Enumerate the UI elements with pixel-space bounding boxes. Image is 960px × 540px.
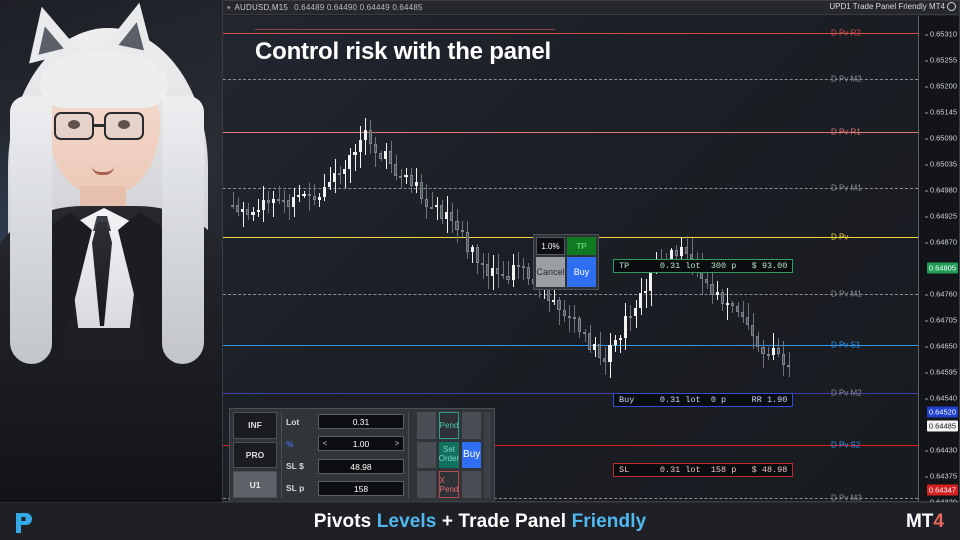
banner-part-3: + Trade Panel <box>436 511 571 532</box>
brand-p-logo-icon <box>14 512 34 534</box>
candle-body <box>430 207 433 209</box>
panel-divider-1 <box>281 412 282 498</box>
sl-points-field[interactable]: 158 <box>318 481 404 496</box>
panel-buy-button[interactable]: Buy <box>462 442 481 469</box>
promo-character-image <box>0 0 222 502</box>
glasses-left-lens-icon <box>54 112 94 140</box>
character-hair-right <box>162 96 204 364</box>
character-illustration <box>0 0 222 502</box>
price-tick: 0.65145 <box>930 108 957 117</box>
candle-body <box>338 173 341 175</box>
action-slot-1[interactable] <box>417 412 436 439</box>
banner-title: Pivots Levels + Trade Panel Friendly <box>314 511 647 533</box>
inf-button[interactable]: INF <box>233 412 277 439</box>
caret-down-icon[interactable]: ▾ <box>227 4 231 12</box>
trade-panel-actions: Pend Set Order Buy X Pend <box>417 412 481 498</box>
pivot-label: D Pv M3 <box>831 494 862 502</box>
candle-wick <box>273 191 274 217</box>
candle-body <box>588 333 591 351</box>
platform-badge: MT4 <box>906 511 944 533</box>
candle-body <box>292 197 295 207</box>
candle-body <box>767 354 770 356</box>
candle-body <box>583 332 586 334</box>
u1-button[interactable]: U1 <box>233 471 277 498</box>
trade-panel-mode-buttons: INFPROU1 <box>233 412 277 498</box>
page-title: Control risk with the panel <box>255 38 551 66</box>
candle-body <box>557 300 560 310</box>
character-fringe <box>40 52 168 108</box>
candle-body <box>675 250 678 256</box>
price-tick: 0.64705 <box>930 316 957 325</box>
pivot-line <box>223 188 918 189</box>
order-line-extra: $ 93.00 <box>752 261 788 271</box>
candle-body <box>267 200 270 203</box>
buy-order-line[interactable]: Buy 0.31 lot 0 p RR 1.90 <box>613 393 793 407</box>
candle-body <box>450 212 453 221</box>
sl-dollar-field[interactable]: 48.98 <box>318 459 404 474</box>
candle-body <box>455 221 458 230</box>
candle-body <box>394 164 397 176</box>
candle-body <box>639 293 642 308</box>
candle-body <box>277 199 280 201</box>
candle-body <box>353 152 356 155</box>
candle-body <box>741 312 744 317</box>
candle-body <box>246 209 249 215</box>
banner-part-1: Pivots <box>314 511 377 532</box>
pivot-label: D Pv S1 <box>831 341 860 350</box>
banner-part-4: Friendly <box>572 511 647 532</box>
candle-body <box>578 318 581 332</box>
headline-rule <box>255 29 555 30</box>
candle-body <box>644 291 647 293</box>
pivot-label: D Pv M1 <box>831 290 862 299</box>
candle-wick <box>462 221 463 237</box>
action-slot-4[interactable] <box>417 442 436 469</box>
chart-symbol-label: AUDUSD,M15 <box>235 3 289 12</box>
trade-panel[interactable]: INFPROU1 Lot0.31%<1.00>SL $48.98SL p158 … <box>229 408 495 501</box>
price-tick: 0.65255 <box>930 56 957 65</box>
candle-body <box>323 187 326 196</box>
pivot-label: D Pv M2 <box>831 75 862 84</box>
price-tick: 0.65090 <box>930 134 957 143</box>
order-line-lot: 0.31 lot <box>660 465 711 475</box>
candle-body <box>262 200 265 210</box>
candle-body <box>399 176 402 178</box>
banner-part-2: Levels <box>377 511 437 532</box>
candle-body <box>471 247 474 251</box>
price-tick: 0.64375 <box>930 472 957 481</box>
candle-body <box>619 338 622 340</box>
candle-body <box>318 197 321 200</box>
action-slot-3[interactable] <box>462 412 481 439</box>
trade-panel-fields: Lot0.31%<1.00>SL $48.98SL p158 <box>286 412 404 498</box>
tp-order-line[interactable]: TP 0.31 lot 300 p $ 93.00 <box>613 259 793 273</box>
candle-body <box>435 205 438 207</box>
candle-wick <box>620 335 621 353</box>
order-line-label: SL <box>619 465 660 475</box>
sl-points-field-row: SL p158 <box>286 479 404 498</box>
candle-body <box>573 317 576 319</box>
candle-body <box>287 200 290 207</box>
percent-stepper-row: %<1.00> <box>286 434 404 453</box>
sl-dollar-field-label: SL $ <box>286 461 318 471</box>
chart-titlebar: ▾ AUDUSD,M15 0.64489 0.64490 0.64449 0.6… <box>223 1 959 15</box>
price-tick: 0.64980 <box>930 186 957 195</box>
candle-body <box>384 151 387 159</box>
candle-wick <box>574 305 575 334</box>
candle-body <box>425 199 428 207</box>
candle-body <box>359 140 362 152</box>
candle-wick <box>789 352 790 377</box>
candle-body <box>756 336 759 347</box>
order-line-points: 300 p <box>711 261 752 271</box>
pivot-label: D Pv R2 <box>831 29 861 38</box>
set-order-button[interactable]: Set Order <box>439 442 460 469</box>
candle-wick <box>569 305 570 332</box>
lot-field-label: Lot <box>286 417 318 427</box>
smiley-icon <box>947 2 956 11</box>
candle-wick <box>503 261 504 279</box>
candle-body <box>608 345 611 363</box>
pivot-line <box>223 33 918 34</box>
stepper-decrement-icon[interactable]: < <box>319 439 331 448</box>
candle-body <box>420 182 423 199</box>
lot-field[interactable]: 0.31 <box>318 414 404 429</box>
percent-stepper-label: % <box>286 439 318 449</box>
pivot-line <box>223 132 918 133</box>
price-tick: 0.64430 <box>930 446 957 455</box>
candle-wick <box>299 185 300 202</box>
candle-body <box>404 175 407 177</box>
percent-stepper[interactable]: <1.00> <box>318 436 404 451</box>
panel-divider-2 <box>408 412 409 498</box>
mt4-chart-window: ▾ AUDUSD,M15 0.64489 0.64490 0.64449 0.6… <box>222 0 960 502</box>
popup-buy-button[interactable]: Buy <box>567 257 596 287</box>
candle-body <box>603 358 606 363</box>
price-tick: 0.64595 <box>930 368 957 377</box>
candle-body <box>751 325 754 336</box>
candle-body <box>710 284 713 295</box>
candle-body <box>445 212 448 219</box>
candle-body <box>563 310 566 316</box>
candle-wick <box>314 184 315 206</box>
candle-wick <box>630 305 631 331</box>
candle-body <box>726 303 729 305</box>
panel-scrollbar[interactable] <box>484 412 491 498</box>
candle-body <box>593 344 596 350</box>
order-line-lot: 0.31 lot <box>660 395 711 405</box>
order-line-points: 0 p <box>711 395 752 405</box>
candle-body <box>302 194 305 196</box>
chart-body: Control risk with the panel D Pv R2D Pv … <box>223 16 959 501</box>
action-slot-9[interactable] <box>462 471 481 498</box>
candle-body <box>685 247 688 254</box>
indicator-title-label: UPD1 Trade Panel Friendly MT4 <box>829 2 945 11</box>
candle-wick <box>243 202 244 226</box>
order-line-points: 158 p <box>711 465 752 475</box>
sl-price-box[interactable]: 0.64347 <box>927 485 958 496</box>
candle-wick <box>773 333 774 360</box>
chart-ohlc-quotes: 0.64489 0.64490 0.64449 0.64485 <box>294 3 423 12</box>
candle-wick <box>523 258 524 280</box>
candle-body <box>512 265 515 280</box>
character-hair-left <box>10 96 52 364</box>
glasses-right-lens-icon <box>104 112 144 140</box>
candle-body <box>552 300 555 302</box>
candle-body <box>598 344 601 357</box>
price-tick: 0.64540 <box>930 394 957 403</box>
candle-wick <box>258 199 259 217</box>
stepper-increment-icon[interactable]: > <box>391 439 403 448</box>
indicator-name-group: UPD1 Trade Panel Friendly MT4 <box>829 2 956 11</box>
risk-percent-value[interactable]: 1.0% <box>536 237 565 255</box>
pivot-label: D Pv R1 <box>831 128 861 137</box>
candle-body <box>782 354 785 365</box>
candle-body <box>343 169 346 174</box>
candle-body <box>568 316 571 318</box>
candle-body <box>297 195 300 197</box>
candle-body <box>257 210 260 212</box>
candle-body <box>716 292 719 295</box>
candle-body <box>241 209 244 212</box>
candle-body <box>461 230 464 232</box>
candle-body <box>251 212 254 215</box>
quick-trade-popup[interactable]: 1.0% TP Cancel Buy <box>533 234 599 290</box>
action-slot-7[interactable] <box>417 471 436 498</box>
candle-body <box>731 303 734 306</box>
pivot-label: D Pv S2 <box>831 441 860 450</box>
candle-body <box>379 153 382 159</box>
pivot-line <box>223 294 918 295</box>
candle-wick <box>763 340 764 368</box>
cat-ear-right-inner <box>119 20 150 51</box>
candle-wick <box>309 183 310 211</box>
candle-body <box>721 292 724 305</box>
cancel-pending-button[interactable]: X Pend <box>439 471 460 498</box>
candle-body <box>486 264 489 277</box>
candle-body <box>680 247 683 256</box>
candle-wick <box>437 197 438 220</box>
candle-body <box>624 316 627 339</box>
candle-body <box>328 182 331 187</box>
promo-banner: Pivots Levels + Trade Panel Friendly MT4 <box>0 502 960 540</box>
candle-body <box>634 308 637 316</box>
candle-wick <box>416 168 417 193</box>
current-price-box[interactable]: 0.64485 <box>927 421 958 432</box>
candle-body <box>364 130 367 141</box>
candle-body <box>369 130 372 144</box>
candle-body <box>466 232 469 252</box>
price-tick: 0.64925 <box>930 212 957 221</box>
candle-body <box>614 340 617 345</box>
candle-body <box>389 151 392 163</box>
candle-body <box>491 268 494 277</box>
sl-order-line[interactable]: SL 0.31 lot 158 p $ 48.98 <box>613 463 793 477</box>
candle-wick <box>483 253 484 279</box>
candle-wick <box>646 279 647 308</box>
candle-body <box>772 348 775 355</box>
price-tick: 0.64870 <box>930 238 957 247</box>
price-tick: 0.65200 <box>930 82 957 91</box>
percent-stepper-value: 1.00 <box>331 439 391 449</box>
candle-body <box>272 199 275 203</box>
candle-wick <box>279 186 280 205</box>
candle-body <box>527 267 530 279</box>
platform-label: MT <box>906 511 933 532</box>
price-tick: 0.64650 <box>930 342 957 351</box>
platform-version: 4 <box>933 511 944 532</box>
candle-body <box>236 205 239 211</box>
candle-body <box>415 182 418 186</box>
pivot-line <box>223 345 918 346</box>
price-scale[interactable]: 0.653100.652550.652000.651450.650900.650… <box>918 16 959 501</box>
candle-body <box>736 306 739 312</box>
candle-body <box>374 144 377 154</box>
candle-body <box>746 317 749 325</box>
candle-body <box>522 266 525 268</box>
candle-wick <box>345 160 346 188</box>
sl-points-field-label: SL p <box>286 483 318 493</box>
price-tick: 0.65035 <box>930 160 957 169</box>
pivot-label: D Pv <box>831 233 848 242</box>
pend-button[interactable]: Pend <box>439 412 460 439</box>
glasses-bridge <box>94 124 104 127</box>
candle-body <box>348 155 351 169</box>
pivot-label: D Pv M2 <box>831 389 862 398</box>
candle-body <box>333 173 336 182</box>
candle-body <box>410 175 413 185</box>
candle-body <box>476 247 479 263</box>
candle-body <box>506 276 509 280</box>
candle-wick <box>401 169 402 189</box>
chart-plot-area[interactable]: Control risk with the panel D Pv R2D Pv … <box>223 16 918 501</box>
order-line-label: TP <box>619 261 660 271</box>
candle-wick <box>355 144 356 171</box>
candle-body <box>481 263 484 265</box>
pivot-label: D Pv M1 <box>831 184 862 193</box>
pivot-line <box>223 79 918 80</box>
order-line-label: Buy <box>619 395 660 405</box>
candle-body <box>231 205 234 207</box>
buy-price-box[interactable]: 0.64520 <box>927 407 958 418</box>
order-line-lot: 0.31 lot <box>660 261 711 271</box>
lot-field-row: Lot0.31 <box>286 412 404 431</box>
order-line-extra: RR 1.90 <box>752 395 788 405</box>
popup-tp-button[interactable]: TP <box>567 237 596 255</box>
candle-body <box>440 205 443 219</box>
candle-body <box>313 196 316 200</box>
candle-body <box>629 316 632 318</box>
candle-body <box>705 279 708 284</box>
candle-body <box>787 365 790 367</box>
price-tick: 0.64760 <box>930 290 957 299</box>
candle-body <box>308 194 311 196</box>
candle-body <box>517 265 520 267</box>
pivot-line <box>223 393 918 394</box>
popup-cancel-button[interactable]: Cancel <box>536 257 565 287</box>
price-tick: 0.65310 <box>930 30 957 39</box>
candle-body <box>496 268 499 274</box>
candle-body <box>282 200 285 202</box>
candle-body <box>501 274 504 276</box>
tp-price-box[interactable]: 0.64805 <box>927 263 958 274</box>
sl-dollar-field-row: SL $48.98 <box>286 457 404 476</box>
order-line-extra: $ 48.98 <box>752 465 788 475</box>
candle-wick <box>319 193 320 207</box>
pro-button[interactable]: PRO <box>233 442 277 469</box>
candle-body <box>777 348 780 354</box>
candle-body <box>761 347 764 353</box>
